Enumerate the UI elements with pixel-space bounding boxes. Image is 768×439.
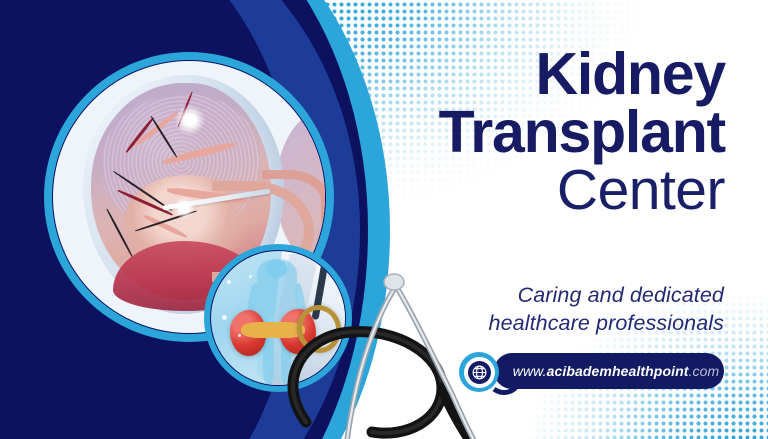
sparkle-2 [238, 334, 241, 337]
title-line-transplant: Transplant [305, 104, 725, 160]
subtitle-line-2: healthcare professionals [304, 310, 724, 338]
globe-icon-inner [468, 361, 491, 384]
title-line-kidney: Kidney [305, 46, 725, 102]
globe-icon-white-ring [464, 357, 495, 388]
website-url-badge[interactable]: www.acibademhealthpoint.com [459, 352, 724, 390]
globe-glyph [471, 364, 488, 381]
title-line-center: Center [305, 162, 725, 219]
kidney-right-hilum [241, 322, 287, 338]
url-prefix: www. [513, 363, 547, 379]
url-pill[interactable]: www.acibademhealthpoint.com [494, 353, 724, 389]
highlight-glow-top [175, 105, 205, 135]
human-silhouette-head [266, 260, 287, 277]
url-tld: .com [689, 363, 720, 379]
globe-icon[interactable] [459, 352, 499, 392]
url-domain: acibademhealthpoint [547, 363, 689, 379]
sparkle-3 [222, 315, 227, 320]
sparkle-1 [227, 280, 231, 284]
url-text: www.acibademhealthpoint.com [499, 363, 720, 379]
kidney-transplant-center-banner: Kidney Transplant Center Caring and dedi… [0, 0, 768, 439]
subtitle: Caring and dedicated healthcare professi… [304, 282, 724, 337]
subtitle-line-1: Caring and dedicated [304, 282, 724, 310]
sparkle-4 [249, 275, 252, 278]
highlight-glow-center [173, 197, 195, 219]
page-title: Kidney Transplant Center [305, 46, 725, 219]
